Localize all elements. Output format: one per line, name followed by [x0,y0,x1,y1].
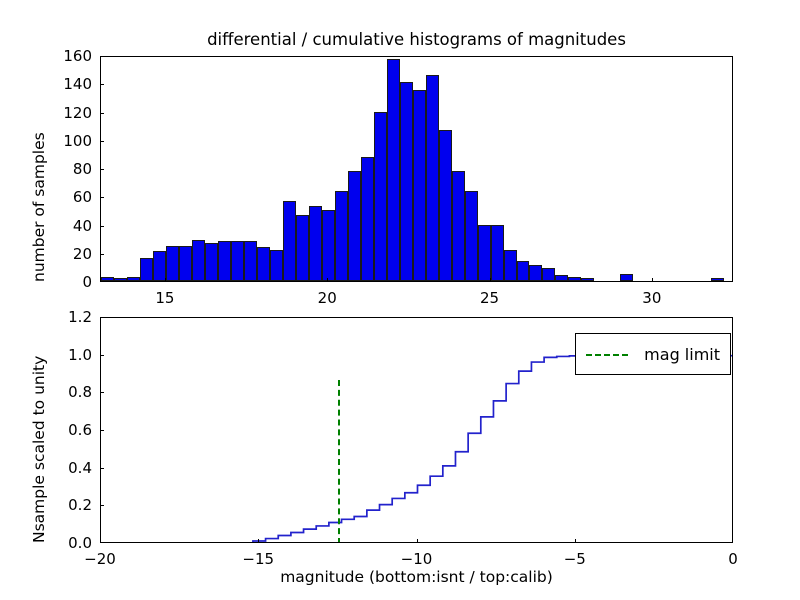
bottom-panel-xtick-mark [258,539,259,543]
legend-label-mag-limit: mag limit [644,345,720,364]
histogram-bar [620,274,633,281]
mag-limit-line-icon [586,347,628,361]
top-panel-xtick-mark [490,278,491,282]
histogram-bar [517,261,530,281]
top-panel-xtick-label: 20 [318,289,337,307]
histogram-bar [296,215,309,281]
bottom-panel-xtick-label: −5 [564,550,586,568]
top-panel-ytick-label: 40 [40,217,92,235]
histogram-bar [439,130,452,281]
bottom-panel-ytick-label: 1.0 [32,346,92,364]
top-panel-ytick-label: 20 [40,245,92,263]
top-panel-ytick-mark [100,113,104,114]
top-panel-xtick-label: 15 [155,289,174,307]
top-panel-ytick-label: 0 [40,273,92,291]
top-panel-xtick-mark [327,278,328,282]
cdf-step-path [101,356,732,542]
histogram-bar [127,277,140,281]
top-panel-xtick-label: 30 [642,289,661,307]
histogram-bar [426,75,439,281]
bottom-panel-xtick-mark [417,539,418,543]
top-panel-ytick-mark [100,84,104,85]
top-panel-ytick-label: 160 [40,47,92,65]
histogram-bar [711,278,724,281]
histogram-bar [192,240,205,281]
histogram-bar [244,241,257,281]
histogram-bar [309,206,322,281]
histogram-bar [205,243,218,281]
bottom-panel-ytick-label: 0.8 [32,383,92,401]
histogram-bar [413,90,426,281]
histogram-bar [581,278,594,281]
histogram-bar [361,157,374,281]
legend-box: mag limit [575,333,731,375]
bottom-panel-ytick-mark [100,430,104,431]
bottom-panel-axes: mag limit [100,317,733,543]
bottom-panel-ytick-label: 1.2 [32,308,92,326]
bottom-panel-ytick-label: 0.2 [32,496,92,514]
histogram-bar [270,250,283,281]
bottom-panel-ytick-label: 0.0 [32,534,92,552]
histogram-bar [478,225,491,282]
histogram-bar [322,210,335,281]
top-panel-ytick-label: 140 [40,75,92,93]
top-panel-axes [100,56,733,282]
top-panel-ytick-label: 80 [40,160,92,178]
histogram-bar [166,246,179,281]
bottom-panel-ytick-label: 0.4 [32,459,92,477]
histogram-bar [348,171,361,281]
histogram-bar [257,247,270,281]
histogram-bar [231,241,244,281]
histogram-bar [555,275,568,281]
bottom-panel-ytick-mark [100,505,104,506]
histogram-bar [400,82,413,281]
histogram-bar [218,241,231,281]
histogram-bar [491,225,504,282]
bottom-panel-ytick-mark [100,468,104,469]
top-plot-area [101,57,732,281]
top-panel-ytick-label: 60 [40,188,92,206]
histogram-bar [283,201,296,282]
histogram-bar [140,258,153,281]
histogram-bar [452,171,465,281]
histogram-bar [101,277,114,281]
mag-limit-vline [338,380,340,542]
top-panel-ytick-label: 120 [40,104,92,122]
histogram-bar [529,265,542,281]
bottom-panel-xtick-label: −15 [242,550,274,568]
bottom-panel-xtick-label: 0 [728,550,738,568]
histogram-bar [568,277,581,281]
histogram-bar [335,191,348,281]
histogram-bar [153,251,166,281]
histogram-bar [542,268,555,281]
figure-canvas: differential / cumulative histograms of … [0,0,800,600]
top-panel-ytick-mark [100,141,104,142]
bottom-panel-ytick-label: 0.6 [32,421,92,439]
bottom-panel-ytick-mark [100,355,104,356]
top-panel-xtick-mark [652,278,653,282]
top-panel-xtick-label: 25 [480,289,499,307]
top-panel-ytick-mark [100,197,104,198]
figure-xlabel: magnitude (bottom:isnt / top:calib) [280,568,553,586]
bottom-panel-xtick-mark [575,539,576,543]
histogram-bar [465,191,478,281]
bottom-panel-xtick-label: −10 [401,550,433,568]
top-panel-ytick-mark [100,169,104,170]
histogram-bar [179,246,192,281]
top-panel-ytick-mark [100,226,104,227]
top-panel-ytick-mark [100,254,104,255]
top-panel-xtick-mark [165,278,166,282]
histogram-bar [114,278,127,281]
top-panel-ytick-label: 100 [40,132,92,150]
histogram-bar [387,59,400,281]
histogram-bar [504,250,517,281]
figure-title: differential / cumulative histograms of … [100,30,733,49]
histogram-bar [374,112,387,282]
bottom-panel-xtick-label: −20 [84,550,116,568]
bottom-panel-ytick-mark [100,392,104,393]
